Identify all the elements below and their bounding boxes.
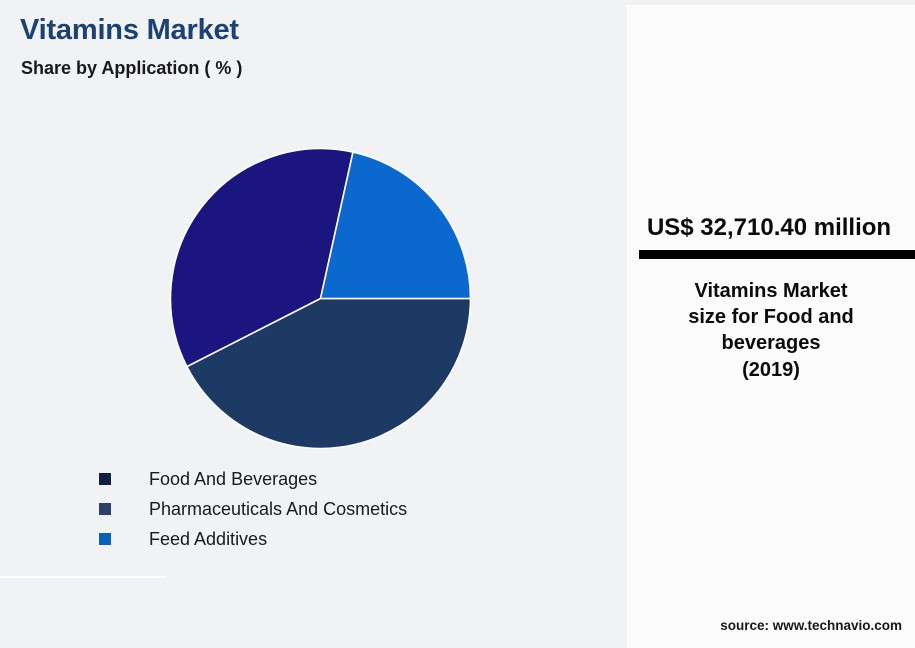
legend-item-label: Food And Beverages — [149, 469, 317, 490]
page-title: Vitamins Market — [20, 14, 239, 47]
legend-swatch-icon — [99, 503, 111, 515]
callout-description: Vitamins Marketsize for Food andbeverage… — [646, 278, 896, 383]
pie-chart — [170, 148, 471, 449]
legend-item-label: Pharmaceuticals And Cosmetics — [149, 499, 407, 520]
chart-callout-panel: US$ 32,710.40 million Vitamins Marketsiz… — [627, 5, 915, 648]
callout-underline-bar — [639, 250, 915, 259]
callout-description-line: (2019) — [646, 357, 896, 383]
legend-swatch-icon — [99, 533, 111, 545]
callout-value: US$ 32,710.40 million — [628, 214, 915, 242]
callout-description-line: size for Food and — [646, 304, 896, 330]
chart-left-panel: Vitamins Market Share by Application ( %… — [0, 0, 627, 648]
legend-item-label: Feed Additives — [149, 529, 267, 550]
legend-item-pharmaceuticals-and-cosmetics[interactable]: Pharmaceuticals And Cosmetics — [99, 494, 569, 524]
legend-swatch-icon — [99, 473, 111, 485]
callout-description-line: beverages — [646, 330, 896, 356]
chart-subtitle: Share by Application ( % ) — [21, 58, 242, 79]
source-attribution: source: www.technavio.com — [628, 618, 915, 633]
chart-canvas: Vitamins Market Share by Application ( %… — [0, 0, 915, 648]
legend-item-food-and-beverages[interactable]: Food And Beverages — [99, 464, 569, 494]
chart-legend: Food And Beverages Pharmaceuticals And C… — [99, 464, 569, 554]
legend-item-feed-additives[interactable]: Feed Additives — [99, 524, 569, 554]
divider — [0, 576, 165, 578]
callout-description-line: Vitamins Market — [646, 278, 896, 304]
pie-chart-svg — [170, 148, 471, 449]
